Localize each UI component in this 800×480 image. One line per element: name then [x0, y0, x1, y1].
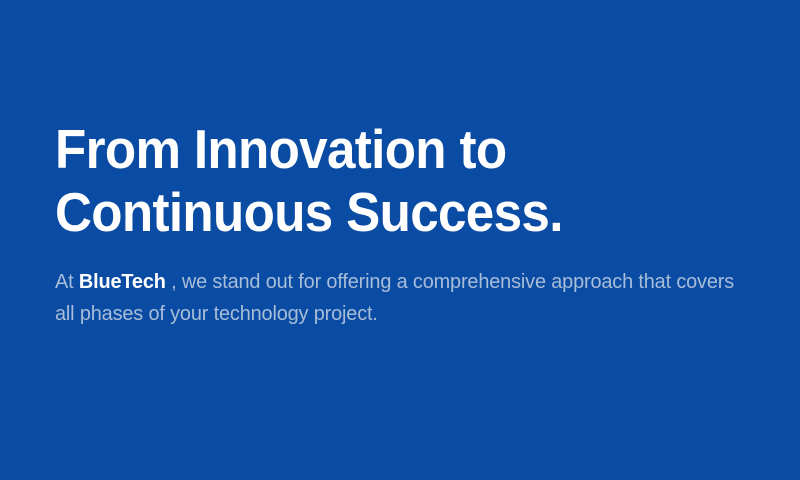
subtitle-text-before-brand: At: [55, 270, 79, 293]
page-title: From Innovation to Continuous Success.: [55, 118, 729, 244]
headline-line-1: From Innovation to: [55, 118, 729, 181]
brand-name: BlueTech: [79, 270, 166, 293]
hero-subtitle: At BlueTech , we stand out for offering …: [55, 244, 758, 330]
hero-banner: From Innovation to Continuous Success. A…: [0, 0, 800, 480]
headline-line-2: Continuous Success.: [55, 181, 729, 244]
hero-content: From Innovation to Continuous Success. A…: [55, 118, 780, 330]
